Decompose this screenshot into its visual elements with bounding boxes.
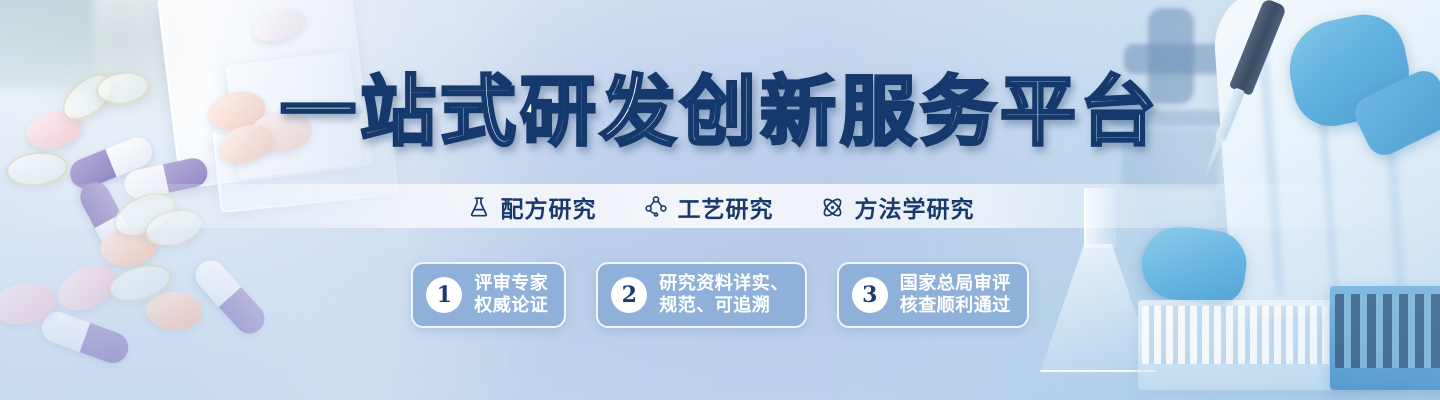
feature-badge[interactable]: 3 国家总局审评 核查顺利通过 [837, 262, 1029, 328]
category-label: 方法学研究 [855, 190, 975, 224]
flask-icon [466, 194, 492, 220]
badge-number: 1 [426, 277, 462, 313]
badge-text: 国家总局审评 核查顺利通过 [900, 273, 1011, 318]
banner-title: 一站式研发创新服务平台 [280, 74, 1160, 150]
title-container: 一站式研发创新服务平台 [0, 74, 1440, 150]
category-item-process[interactable]: 工艺研究 [643, 190, 774, 224]
badge-line-2: 权威论证 [474, 295, 548, 317]
badge-line-2: 规范、可追溯 [659, 295, 789, 317]
badge-line-1: 研究资料详实、 [659, 273, 789, 295]
badge-line-1: 评审专家 [474, 273, 548, 295]
badge-number: 2 [611, 277, 647, 313]
category-label: 工艺研究 [678, 190, 774, 224]
molecule-icon [643, 194, 669, 220]
atom-icon [820, 194, 846, 220]
feature-badge[interactable]: 2 研究资料详实、 规范、可追溯 [596, 262, 807, 328]
promo-banner: 一站式研发创新服务平台 配方研究 [0, 0, 1440, 400]
banner-content: 一站式研发创新服务平台 配方研究 [0, 0, 1440, 400]
category-item-methodology[interactable]: 方法学研究 [820, 190, 975, 224]
badge-line-1: 国家总局审评 [900, 273, 1011, 295]
category-label: 配方研究 [501, 190, 597, 224]
category-list: 配方研究 工艺研究 [0, 186, 1440, 228]
badge-number: 3 [852, 277, 888, 313]
feature-badge-list: 1 评审专家 权威论证 2 研究资料详实、 规范、可追溯 3 国家总局审评 核查… [0, 262, 1440, 328]
badge-text: 评审专家 权威论证 [474, 273, 548, 318]
category-item-formulation[interactable]: 配方研究 [466, 190, 597, 224]
feature-badge[interactable]: 1 评审专家 权威论证 [411, 262, 566, 328]
badge-text: 研究资料详实、 规范、可追溯 [659, 273, 789, 318]
badge-line-2: 核查顺利通过 [900, 295, 1011, 317]
